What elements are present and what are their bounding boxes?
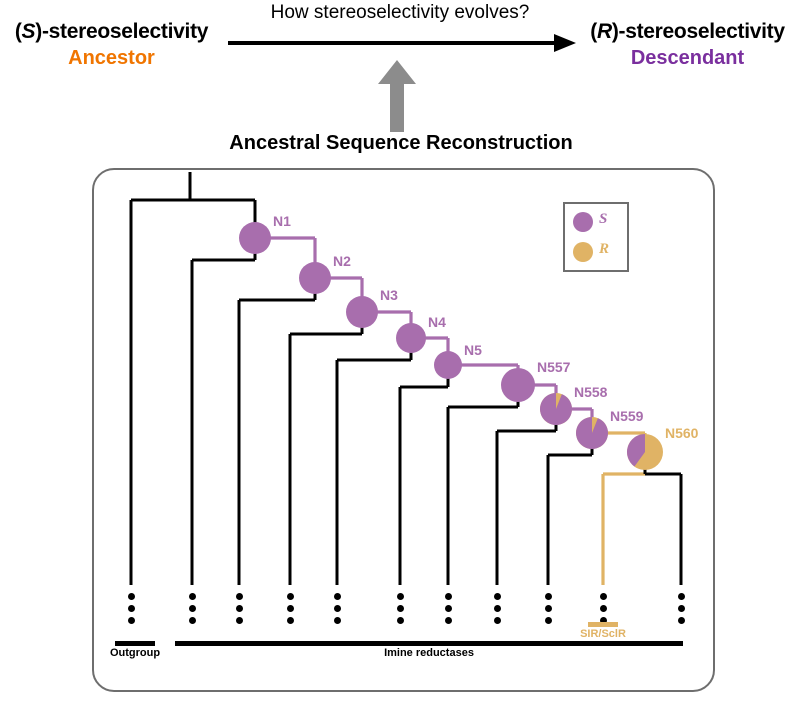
node-label-N5: N5 (464, 342, 482, 358)
clade-bar-imine-reductases (175, 641, 683, 646)
tip-dot (545, 593, 552, 600)
tip-ellipsis-6 (397, 593, 404, 629)
tip-dot (397, 605, 404, 612)
clade-bar-sir-sclr (588, 622, 618, 627)
tip-dot (678, 605, 685, 612)
tip-dot (678, 617, 685, 624)
stereoselectivity-legend: S R (563, 202, 629, 272)
tip-dot (128, 593, 135, 600)
tip-ellipsis-9 (545, 593, 552, 629)
node-label-N2: N2 (333, 253, 351, 269)
tip-dot (494, 593, 501, 600)
tip-ellipsis-8 (494, 593, 501, 629)
ancestral-node-N560[interactable] (627, 434, 663, 470)
tip-ellipsis-2 (189, 593, 196, 629)
legend-item-s: S (571, 209, 627, 235)
tip-dot (287, 605, 294, 612)
tip-ellipsis-7 (445, 593, 452, 629)
tip-dot (678, 593, 685, 600)
ancestral-node-N2[interactable] (299, 262, 331, 294)
tip-dot (494, 617, 501, 624)
tip-dot (236, 605, 243, 612)
node-label-N3: N3 (380, 287, 398, 303)
node-circle-N5 (434, 351, 462, 379)
ancestral-node-N5[interactable] (434, 351, 462, 379)
tip-dot (545, 617, 552, 624)
tip-ellipsis-4 (287, 593, 294, 629)
node-label-N559: N559 (610, 408, 643, 424)
node-circle-N3 (346, 296, 378, 328)
tip-dot (600, 593, 607, 600)
ancestral-node-N557[interactable] (501, 368, 535, 402)
node-label-N560: N560 (665, 425, 698, 441)
tip-dot (236, 617, 243, 624)
tip-dot (334, 605, 341, 612)
tip-dot (445, 617, 452, 624)
tip-ellipsis-3 (236, 593, 243, 629)
tip-dot (397, 617, 404, 624)
tip-dot (545, 605, 552, 612)
legend-item-r: R (571, 239, 627, 265)
tip-dot (189, 593, 196, 600)
tip-dot (494, 605, 501, 612)
clade-label-imine-reductases: Imine reductases (115, 647, 743, 659)
tip-dot (445, 605, 452, 612)
tip-dot (189, 617, 196, 624)
clade-bar-outgroup (115, 641, 155, 646)
tip-dot (397, 593, 404, 600)
legend-dot-r (573, 242, 593, 262)
ancestral-node-N4[interactable] (396, 323, 426, 353)
ancestral-node-N1[interactable] (239, 222, 271, 254)
node-label-N1: N1 (273, 213, 291, 229)
tip-dot (287, 593, 294, 600)
node-label-N558: N558 (574, 384, 607, 400)
tip-ellipsis-5 (334, 593, 341, 629)
tip-dot (600, 605, 607, 612)
tip-dot (128, 617, 135, 624)
clade-label-sir-sclr: SIR/SclR (528, 628, 678, 640)
tip-dot (236, 593, 243, 600)
node-circle-N4 (396, 323, 426, 353)
node-label-N4: N4 (428, 314, 446, 330)
ancestral-node-N559[interactable] (576, 417, 608, 449)
ancestral-node-N3[interactable] (346, 296, 378, 328)
tip-dot (287, 617, 294, 624)
node-label-N557: N557 (537, 359, 570, 375)
tip-dot (189, 605, 196, 612)
node-circle-N557 (501, 368, 535, 402)
legend-label-r: R (599, 241, 609, 258)
ancestral-node-N558[interactable] (540, 393, 572, 425)
tip-ellipsis-1 (128, 593, 135, 629)
legend-label-s: S (599, 211, 607, 228)
tip-dot (334, 593, 341, 600)
tip-dot (445, 593, 452, 600)
tip-ellipsis-11 (678, 593, 685, 629)
tip-dot (128, 605, 135, 612)
node-circle-N1 (239, 222, 271, 254)
node-circle-N2 (299, 262, 331, 294)
legend-dot-s (573, 212, 593, 232)
tip-dot (334, 617, 341, 624)
